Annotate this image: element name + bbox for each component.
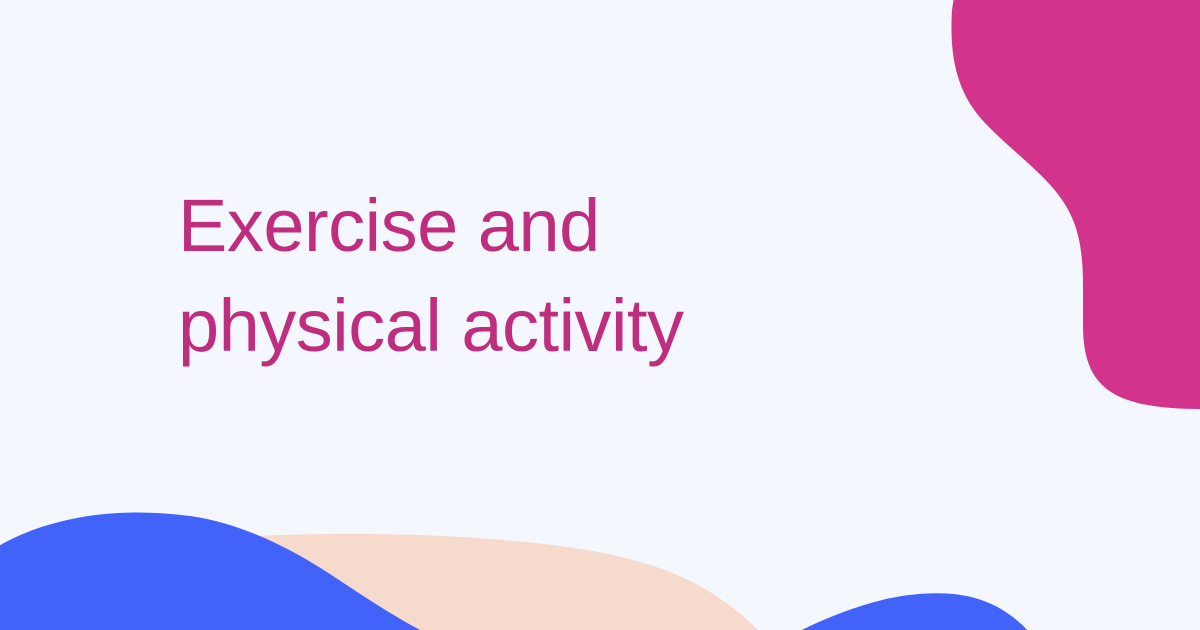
social-card: Exercise and physical activity — [0, 0, 1200, 630]
page-title: Exercise and physical activity — [178, 176, 878, 376]
content-area: Exercise and physical activity — [0, 0, 1200, 630]
